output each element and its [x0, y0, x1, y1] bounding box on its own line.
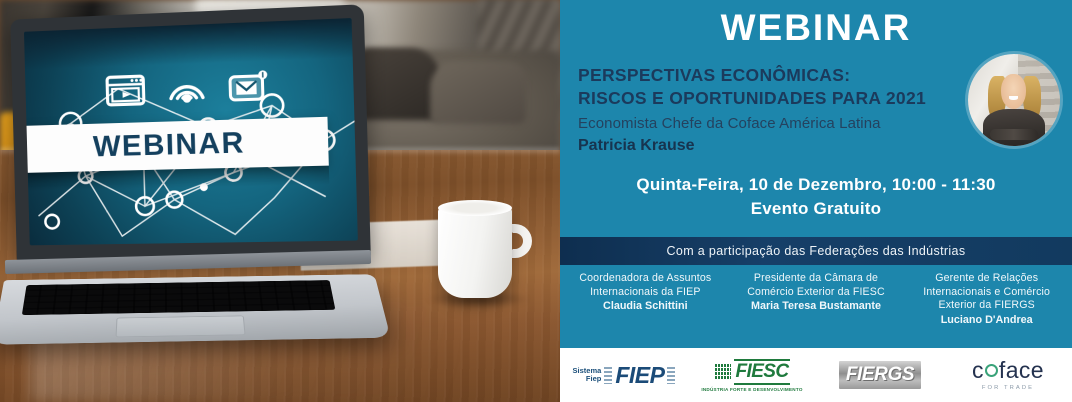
- credit-role-line-2: Internacionais e Comércio: [905, 286, 1068, 300]
- logo-fiep[interactable]: Sistema Fiep FIEP: [560, 362, 688, 389]
- fiep-wordmark: FIEP: [615, 362, 664, 389]
- patricia-krause-portrait: [968, 54, 1060, 146]
- laptop: WEBINAR: [5, 12, 375, 352]
- participation-band: Com a participação das Federações das In…: [560, 237, 1072, 265]
- laptop-screen: WEBINAR: [24, 18, 358, 245]
- credit-role-line-1: Gerente de Relações: [905, 272, 1068, 286]
- coface-word-before: c: [972, 359, 984, 382]
- credit-role: Gerente de Relações Internacionais e Com…: [905, 272, 1068, 313]
- credit-role: Presidente da Câmara de Comércio Exterio…: [735, 272, 898, 299]
- fiep-dots-left-icon: [604, 367, 612, 384]
- video-player-icon: [105, 74, 145, 106]
- sponsor-logo-bar: Sistema Fiep FIEP FIESC INDÚSTRIA FORTE …: [560, 348, 1072, 402]
- sofa-cushion-right: [430, 62, 526, 124]
- mug-rim: [438, 200, 512, 216]
- credit-name: Luciano D'Andrea: [905, 314, 1068, 326]
- laptop-on-desk-photo: WEBINAR: [0, 0, 560, 402]
- logo-fiesc[interactable]: FIESC INDÚSTRIA FORTE E DESENVOLVIMENTO: [688, 359, 816, 392]
- fiep-prefix-line-2: Fiep: [573, 375, 602, 383]
- fiesc-tagline: INDÚSTRIA FORTE E DESENVOLVIMENTO: [701, 387, 802, 392]
- participation-text: Com a participação das Federações das In…: [667, 244, 966, 258]
- info-panel: WEBINAR PERSPECTIVAS ECONÔMICAS: RISCOS …: [560, 0, 1072, 402]
- portrait-smile: [1009, 96, 1017, 100]
- screen-webinar-text: WEBINAR: [92, 126, 245, 164]
- credit-name: Claudia Schittini: [564, 300, 727, 312]
- fiesc-wordmark: FIESC: [734, 359, 791, 385]
- envelope-notification-icon: [228, 70, 269, 103]
- coface-ring-icon: [985, 364, 998, 377]
- credit-fiep: Coordenadora de Assuntos Internacionais …: [560, 272, 731, 344]
- laptop-trackpad: [116, 316, 246, 338]
- fiep-dots-right-icon: [667, 367, 675, 384]
- laptop-lid: WEBINAR: [10, 4, 371, 262]
- logo-fiergs[interactable]: FIERGS: [816, 361, 944, 389]
- fiesc-emblem-icon: [714, 363, 731, 380]
- laptop-base: [0, 274, 391, 345]
- coface-wordmark: c face: [972, 359, 1044, 382]
- credit-role-line-3: Exterior da FIERGS: [905, 299, 1068, 313]
- broadcast-wifi-icon: [166, 72, 207, 104]
- credit-role-line-1: Presidente da Câmara de: [735, 272, 898, 286]
- credits-row: Coordenadora de Assuntos Internacionais …: [560, 272, 1072, 344]
- coface-tagline: FOR TRADE: [982, 385, 1034, 391]
- event-price: Evento Gratuito: [560, 197, 1072, 222]
- portrait-blazer: [983, 109, 1046, 146]
- credit-role-line-1: Coordenadora de Assuntos: [564, 272, 727, 286]
- logo-coface[interactable]: c face FOR TRADE: [944, 359, 1072, 391]
- laptop-keyboard: [22, 280, 336, 315]
- mug-body: [438, 206, 512, 298]
- panel-title: WEBINAR: [560, 0, 1072, 46]
- credit-role-line-2: Internacionais da FIEP: [564, 286, 727, 300]
- credit-fiesc: Presidente da Câmara de Comércio Exterio…: [731, 272, 902, 344]
- portrait-face: [1001, 74, 1026, 109]
- fiep-prefix: Sistema Fiep: [573, 367, 602, 384]
- webinar-banner: WEBINAR WEBINAR: [0, 0, 1072, 402]
- event-datetime: Quinta-Feira, 10 de Dezembro, 10:00 - 11…: [560, 173, 1072, 198]
- screen-webinar-banner: WEBINAR: [24, 117, 329, 173]
- credit-fiergs: Gerente de Relações Internacionais e Com…: [901, 272, 1072, 344]
- portrait-crossed-arms: [990, 129, 1038, 140]
- credit-role-line-2: Comércio Exterior da FIESC: [735, 286, 898, 300]
- credit-name: Maria Teresa Bustamante: [735, 300, 898, 312]
- fiergs-wordmark: FIERGS: [846, 364, 914, 386]
- coffee-mug: [438, 198, 530, 302]
- coface-word-after: face: [999, 359, 1044, 382]
- event-schedule: Quinta-Feira, 10 de Dezembro, 10:00 - 11…: [560, 173, 1072, 222]
- screen-icon-row: [25, 54, 354, 122]
- credit-role: Coordenadora de Assuntos Internacionais …: [564, 272, 727, 299]
